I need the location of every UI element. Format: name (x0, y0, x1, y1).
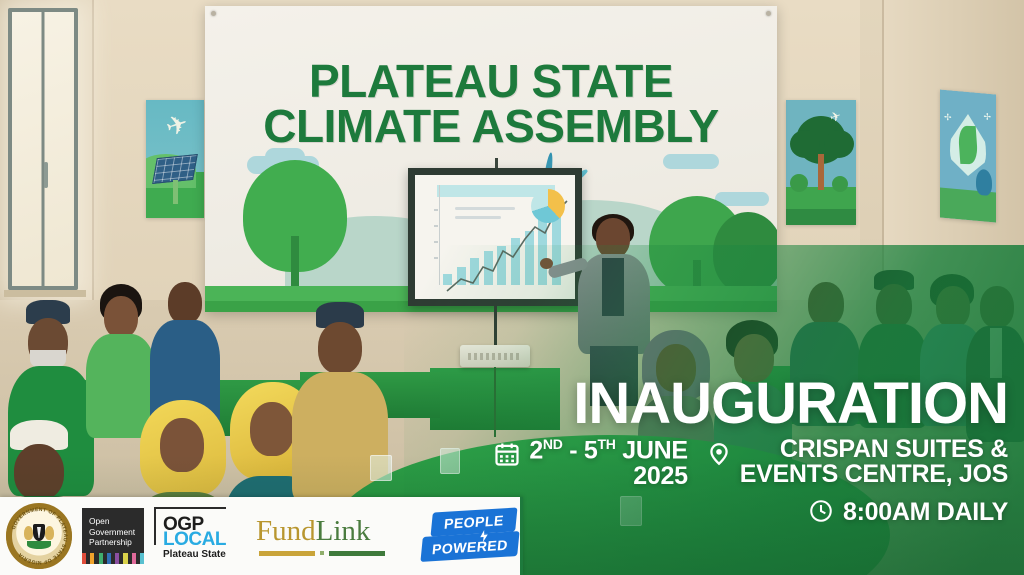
bush-icon (790, 174, 808, 192)
screen-stand (494, 306, 497, 350)
attendee-head (808, 282, 844, 326)
window-sill (4, 290, 86, 297)
ogp-line1: Open (89, 516, 138, 527)
ogp-local-bottom: LOCAL (163, 529, 226, 551)
tree-crown-icon (824, 130, 854, 158)
event-date: 2ND - 5TH JUNE 2025 (493, 437, 687, 489)
fundlink-wordmark: FundLink (256, 517, 406, 546)
fundlink-part1: Fund (256, 515, 316, 547)
presenter-hand (540, 258, 553, 269)
presenter-top (602, 258, 624, 316)
event-time-text: 8:00AM DAILY (843, 498, 1008, 527)
event-headline: INAUGURATION (488, 376, 1008, 431)
banner-pin (211, 11, 216, 16)
crest-base (27, 541, 51, 549)
ogp-color-bars (82, 553, 144, 564)
attendee-head (936, 286, 970, 328)
venue-line2: EVENTS CENTRE, JOS (740, 462, 1008, 488)
water-glass (440, 448, 460, 474)
date-day-start: 2 (529, 436, 543, 464)
projection-screen-content (415, 175, 575, 299)
event-poster: ✈ ✈ ✢ ✢ (0, 0, 1024, 575)
open-government-partnership-logo: Open Government Partnership (82, 508, 144, 564)
event-details: INAUGURATION (488, 376, 1008, 529)
attendee-head (318, 322, 362, 374)
event-venue-text: CRISPAN SUITES & EVENTS CENTRE, JOS (740, 437, 1008, 488)
ogp-local-subtitle: Plateau State (163, 549, 226, 560)
bush-icon (832, 176, 848, 192)
people-powered-bottom: POWERED (420, 531, 519, 562)
clock-icon (808, 498, 834, 529)
poster-grass (786, 209, 856, 225)
attendee-head (250, 402, 294, 456)
cloud-icon (663, 154, 719, 169)
logobar-edge (520, 497, 523, 575)
leaf-icon (958, 126, 979, 164)
crest-horse-left (24, 526, 33, 540)
poster-tree: ✈ (786, 100, 856, 225)
date-day-end: 5 (584, 436, 598, 464)
date-day-start-suffix: ND (543, 436, 563, 452)
crest-horse-right (45, 526, 54, 540)
nigeria-coat-of-arms (24, 521, 54, 551)
attendee-head (160, 418, 204, 472)
fundlink-rule-gold (259, 551, 315, 556)
crest-shield (33, 524, 45, 541)
tree-crown-icon (790, 130, 820, 158)
window (8, 8, 78, 290)
attendee-head (876, 284, 912, 328)
banner-title-line2: CLIMATE ASSEMBLY (205, 104, 777, 149)
attendee-head (980, 286, 1014, 328)
window-handle (44, 162, 48, 188)
bird-icon: ✢ (944, 112, 952, 124)
banner-title: PLATEAU STATE CLIMATE ASSEMBLY (205, 59, 777, 149)
solar-panel-pole (173, 180, 178, 204)
water-glass (370, 455, 392, 481)
presenter-head (596, 218, 630, 258)
date-separator: - (569, 436, 577, 464)
tree-crown-icon (713, 212, 777, 294)
event-time: 8:00AM DAILY (488, 495, 1008, 529)
plateau-state-government-seal: GOVERNMENT OF PLATEAU STATE OF NIGERIA (6, 503, 72, 569)
people-powered-logo: PEOPLE POWERED (416, 507, 524, 565)
tree-icon (976, 169, 992, 196)
screen-rod (495, 158, 498, 168)
poster-solar-panel-airplane: ✈ (146, 100, 204, 218)
location-pin-icon (706, 440, 732, 473)
calendar-icon (493, 440, 521, 473)
date-year: 2025 (529, 464, 687, 490)
venue-line1: CRISPAN SUITES & (780, 435, 1008, 463)
ogp-line3: Partnership (89, 537, 138, 548)
event-venue: CRISPAN SUITES & EVENTS CENTRE, JOS (706, 437, 1008, 488)
date-month: JUNE (622, 436, 688, 464)
ogp-local-plateau-state-logo: OGP LOCAL Plateau State (154, 507, 246, 565)
banner-title-line1: PLATEAU STATE (309, 55, 673, 107)
poster-leaf-water-drop: ✢ ✢ (940, 90, 996, 223)
event-date-text: 2ND - 5TH JUNE 2025 (529, 437, 687, 489)
fundlink-underline (256, 551, 406, 556)
projection-screen (408, 168, 582, 306)
date-day-end-suffix: TH (598, 436, 616, 452)
banner-pin (766, 11, 771, 16)
fundlink-rule-green (329, 551, 385, 556)
window-mullion (42, 12, 45, 286)
sponsor-logo-bar: GOVERNMENT OF PLATEAU STATE OF NIGERIA O… (0, 497, 523, 575)
fundlink-rule-dot (320, 551, 324, 555)
projector-vents (468, 353, 522, 360)
tree-trunk (818, 154, 824, 190)
ogp-line2: Government (89, 527, 138, 538)
attendee-head (104, 296, 138, 338)
attendee-head (14, 444, 64, 500)
bird-icon: ✢ (983, 111, 991, 123)
projector (460, 345, 530, 367)
date-and-venue-row: 2ND - 5TH JUNE 2025 CRISPAN SUITES & (488, 437, 1008, 489)
fundlink-logo: FundLink (256, 508, 406, 564)
chart-pie (531, 189, 565, 223)
attendee-head (168, 282, 202, 324)
fundlink-part2: Link (316, 515, 371, 547)
